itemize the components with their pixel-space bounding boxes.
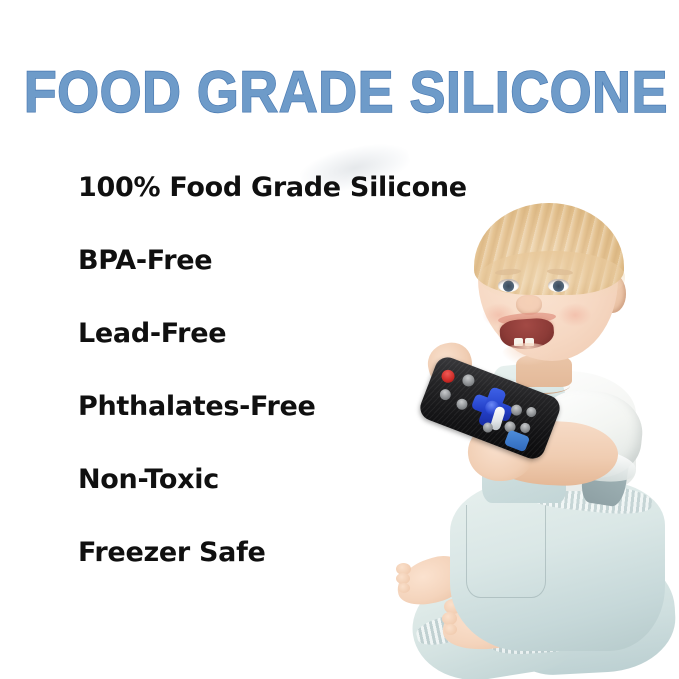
baby-chin [502,343,554,365]
baby-cheek [558,303,592,327]
baby-hair-fringe [480,251,625,303]
baby-toe [444,624,457,635]
page-title: FOOD GRADE SILICONE [24,62,655,124]
product-feature-banner: FOOD GRADE SILICONE 100% Food Grade Sili… [0,0,679,679]
baby-eye [498,279,519,292]
baby-eye [548,279,569,292]
overalls-pocket [466,505,546,598]
baby-toe [398,583,410,593]
product-lifestyle-photo [390,195,679,655]
